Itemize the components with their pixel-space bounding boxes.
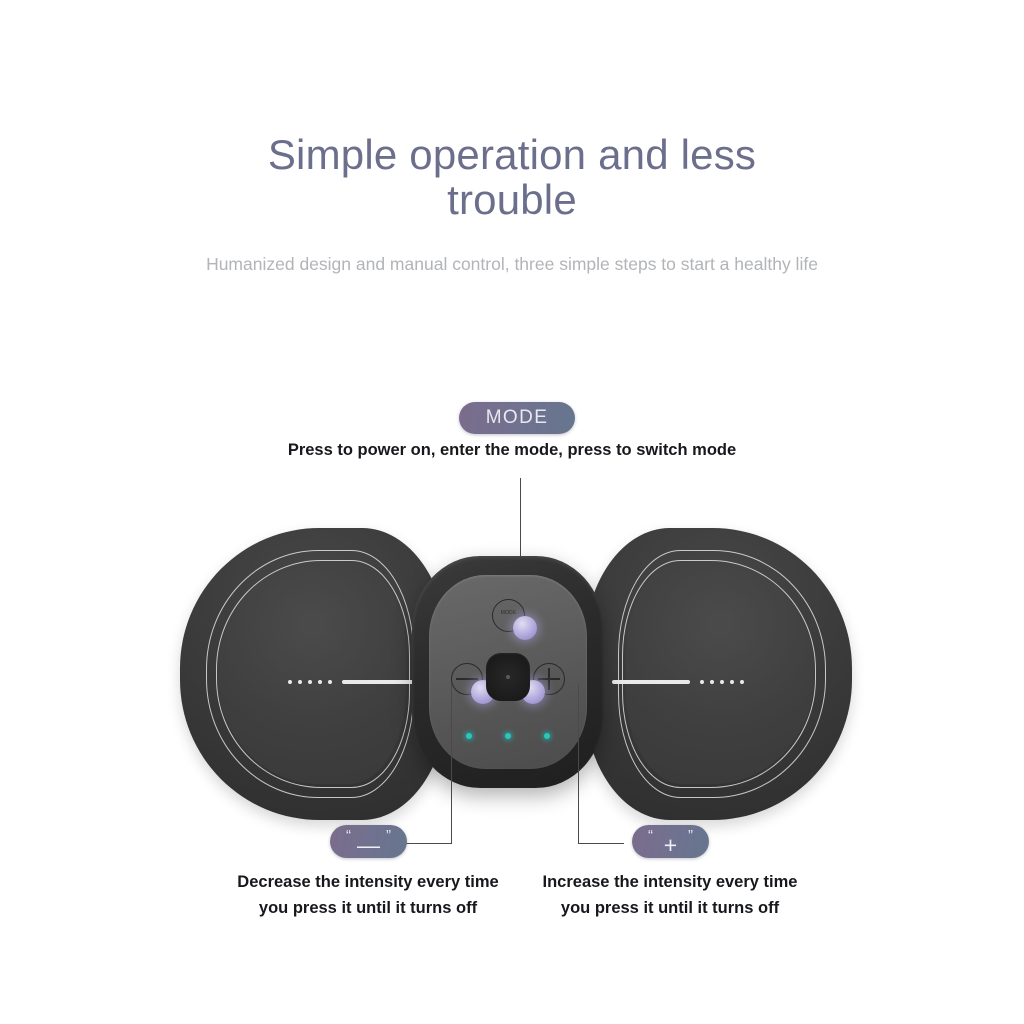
leader-line-increase-horizontal	[578, 843, 624, 844]
wing-right-ring-inner	[622, 560, 816, 788]
device-illustration: MODE	[180, 520, 852, 826]
control-panel-face: MODE	[429, 575, 587, 769]
caption-decrease: Decrease the intensity every time you pr…	[224, 870, 512, 921]
device-wing-right	[584, 528, 852, 820]
badge-increase[interactable]: “ + ”	[632, 825, 709, 858]
leader-line-increase-vertical	[578, 684, 579, 844]
wing-right-marking	[612, 680, 744, 684]
badge-decrease[interactable]: “ — ”	[330, 825, 407, 858]
device-center-emblem	[486, 653, 530, 701]
quote-close-icon: ”	[386, 828, 391, 843]
leader-line-decrease-horizontal	[406, 843, 452, 844]
wing-dot	[318, 680, 322, 684]
wing-dot	[288, 680, 292, 684]
badge-mode-label: MODE	[486, 407, 549, 429]
emblem-core-dot	[506, 675, 510, 679]
page-title: Simple operation and less trouble	[212, 132, 812, 223]
wing-dot	[720, 680, 724, 684]
minus-icon	[456, 678, 478, 680]
led-indicator-row	[429, 733, 587, 739]
page-subtitle: Humanized design and manual control, thr…	[202, 252, 822, 277]
product-infographic: Simple operation and less trouble Humani…	[0, 0, 1024, 1024]
badge-mode[interactable]: MODE	[459, 402, 575, 434]
caption-mode: Press to power on, enter the mode, press…	[212, 441, 812, 460]
plus-icon-vertical	[548, 668, 550, 690]
wing-left-ring-inner	[216, 560, 410, 788]
wing-dot	[328, 680, 332, 684]
device-control-module: MODE	[412, 556, 604, 788]
wing-dot	[700, 680, 704, 684]
led-indicator	[505, 733, 511, 739]
caption-increase: Increase the intensity every time you pr…	[526, 870, 814, 921]
led-indicator	[466, 733, 472, 739]
wing-bar	[612, 680, 690, 684]
badge-increase-glyph: +	[632, 834, 709, 857]
wing-dot	[308, 680, 312, 684]
wing-dot	[298, 680, 302, 684]
device-wing-left	[180, 528, 448, 820]
quote-close-icon: ”	[688, 828, 693, 843]
mode-button-glow-icon	[513, 616, 537, 640]
wing-dot	[710, 680, 714, 684]
wing-bar	[342, 680, 420, 684]
device-mode-button-label: MODE	[493, 611, 524, 616]
wing-dot	[740, 680, 744, 684]
wing-left-marking	[288, 680, 420, 684]
led-indicator	[544, 733, 550, 739]
badge-decrease-glyph: —	[330, 834, 407, 857]
leader-line-decrease-vertical	[451, 684, 452, 844]
wing-dot	[730, 680, 734, 684]
